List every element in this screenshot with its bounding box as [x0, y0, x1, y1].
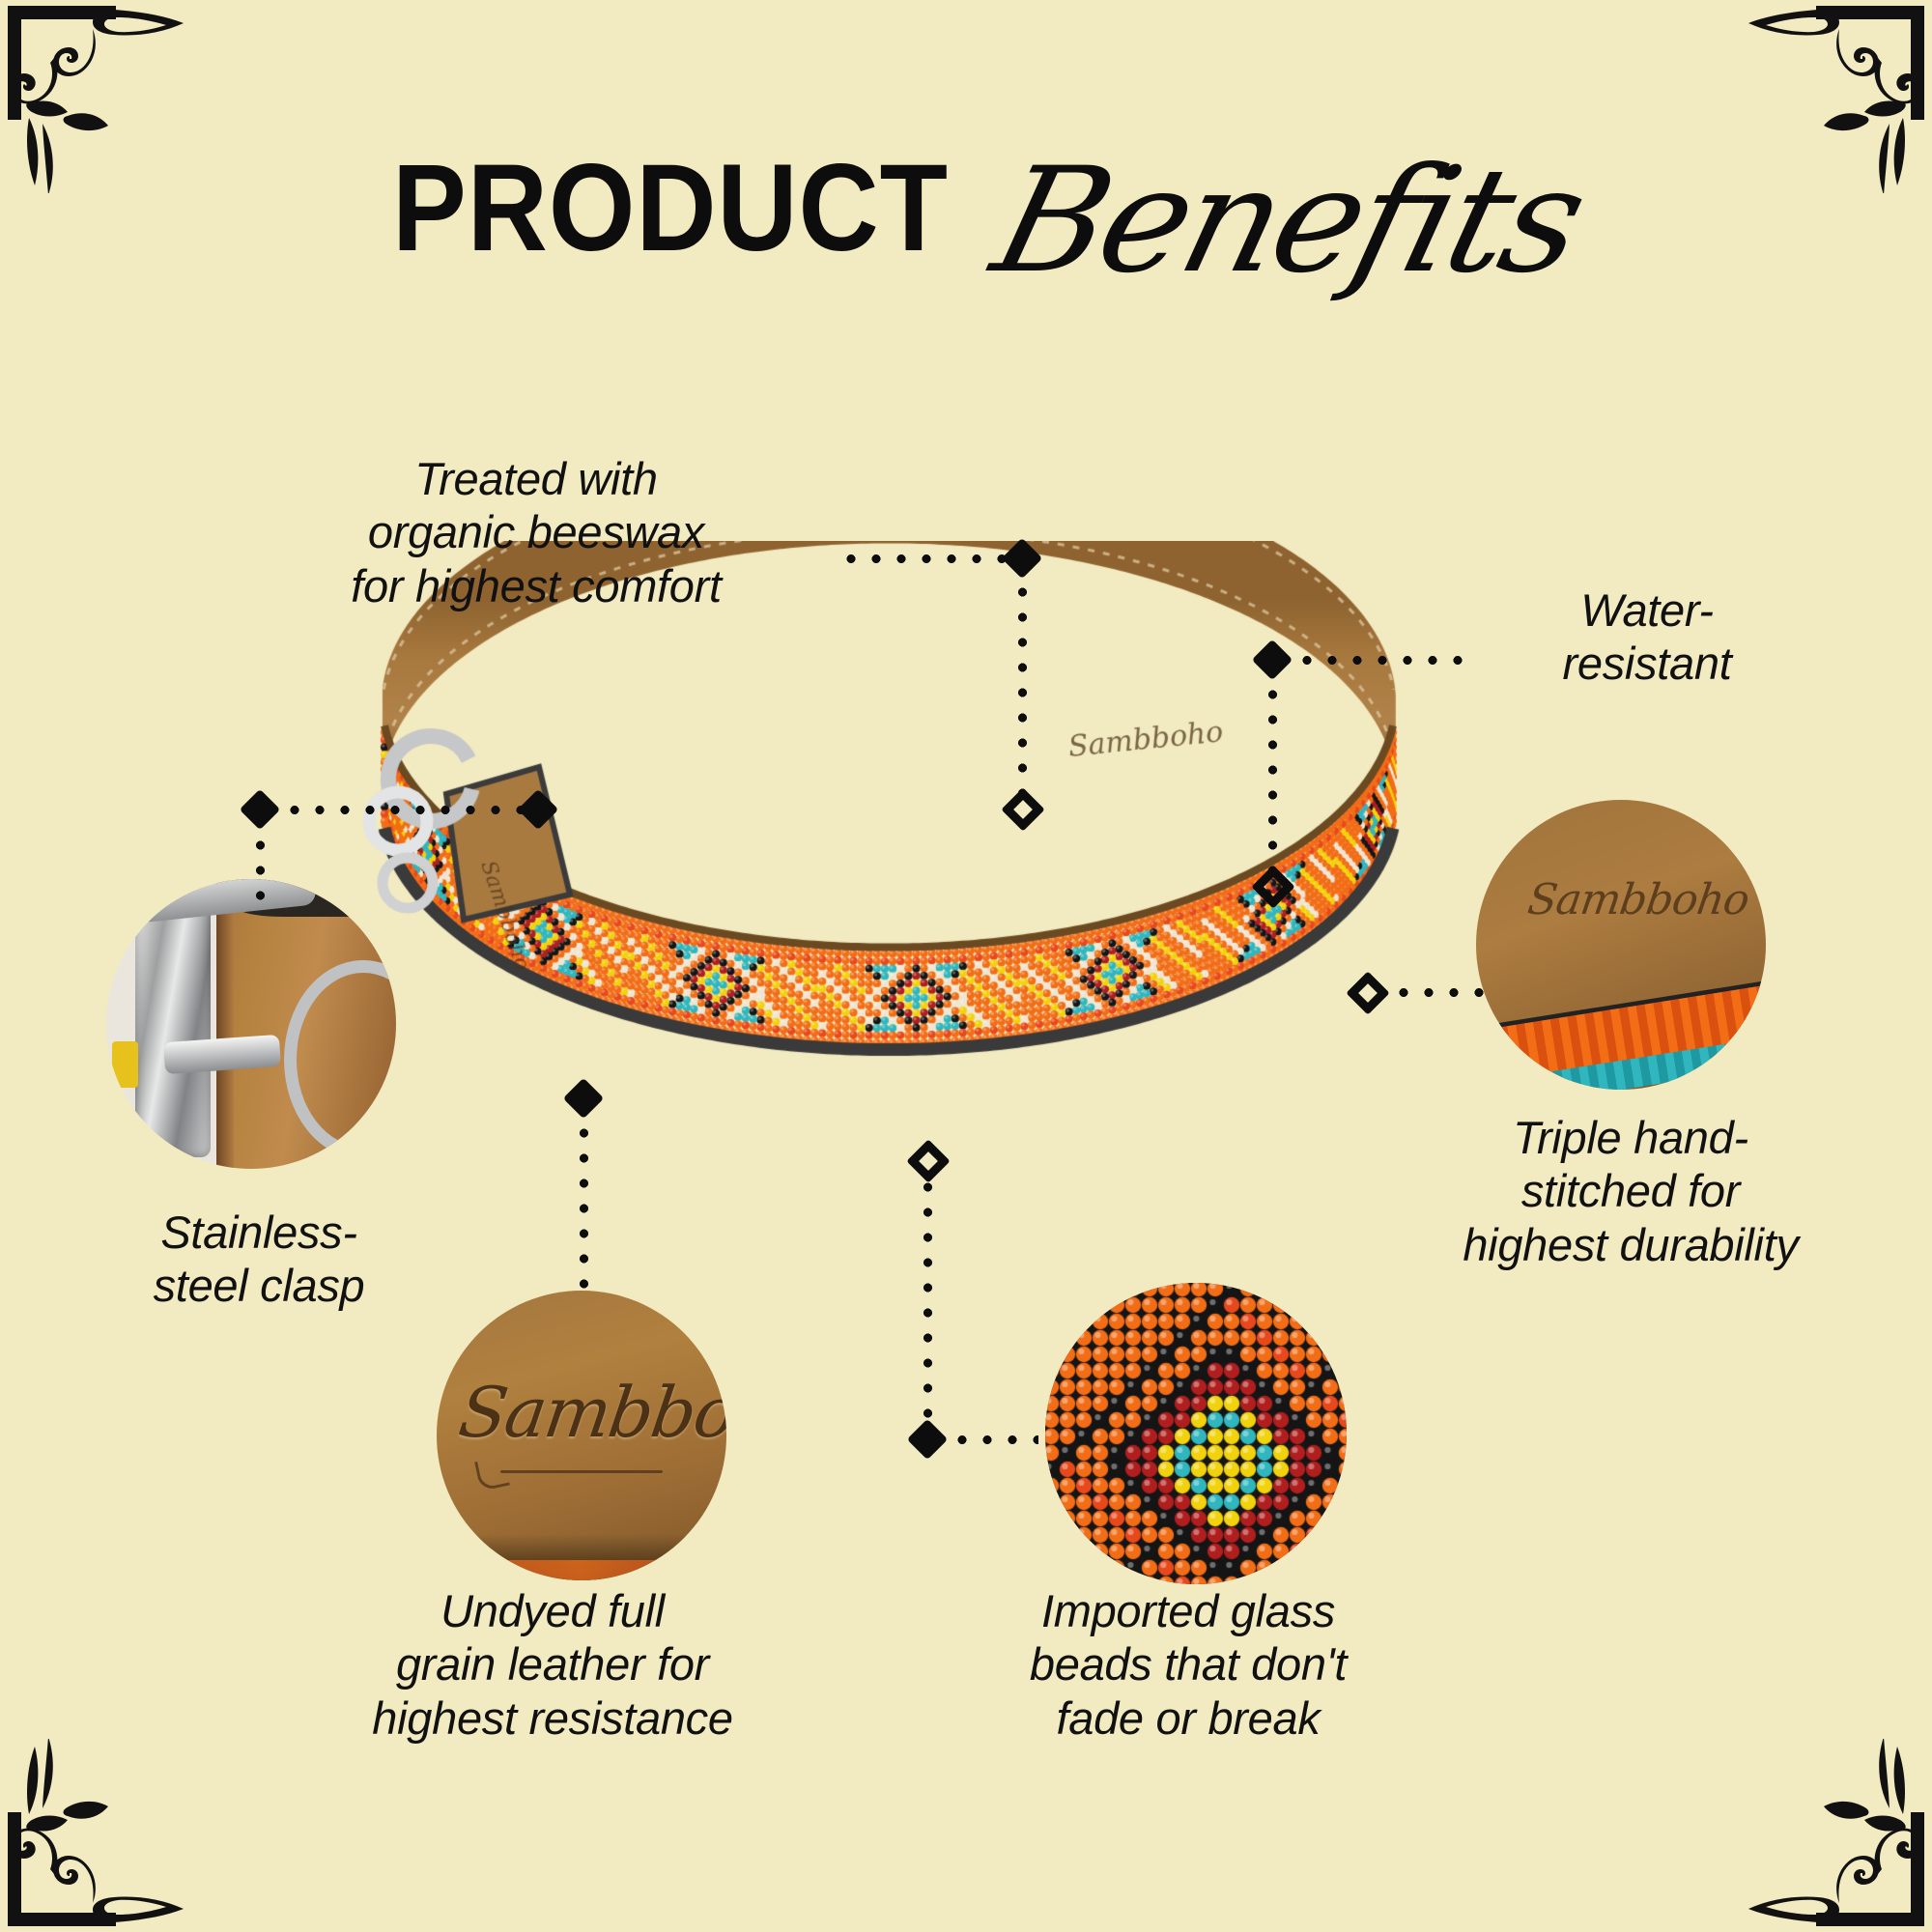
- corner-flourish-bottom-right-icon: [1739, 1739, 1932, 1932]
- callout-leather-line3: highest resistance: [301, 1691, 804, 1745]
- leader-beads-endpoint-diamond: [906, 1139, 950, 1182]
- callout-beads-line3: fade or break: [947, 1691, 1430, 1745]
- leader-water-horizontal: [1294, 656, 1470, 665]
- callout-stitch-line3: highest durability: [1391, 1218, 1870, 1271]
- leader-beads-vertical: [923, 1175, 932, 1422]
- callout-water-resistant: Water- resistant: [1488, 583, 1806, 691]
- page-title: PRODUCTBenefits: [0, 124, 1932, 292]
- callout-triple-stitched: Triple hand- stitched for highest durabi…: [1391, 1111, 1870, 1271]
- leader-leather-vertical: [580, 1121, 588, 1291]
- infographic-canvas: PRODUCTBenefits Sambboho Sambboho: [0, 0, 1932, 1932]
- callout-beeswax-line2: organic beeswax: [309, 505, 763, 558]
- page-title-bold: PRODUCT: [391, 137, 948, 279]
- callout-water-line2: resistant: [1488, 637, 1806, 690]
- callout-glass-beads: Imported glass beads that don't fade or …: [947, 1584, 1430, 1745]
- callout-beeswax: Treated with organic beeswax for highest…: [309, 452, 763, 612]
- callout-stitch-line1: Triple hand-: [1391, 1111, 1870, 1164]
- callout-undyed-leather: Undyed full grain leather for highest re…: [301, 1584, 804, 1745]
- inset-stainless-steel-clasp: [106, 879, 396, 1169]
- leader-clasp-elbow-diamond: [240, 789, 280, 830]
- callout-beads-line1: Imported glass: [947, 1584, 1430, 1637]
- leader-beeswax-horizontal: [838, 554, 1009, 563]
- callout-clasp-line2: steel clasp: [95, 1259, 423, 1312]
- callout-water-line1: Water-: [1488, 583, 1806, 637]
- leader-beads-elbow-diamond: [907, 1419, 948, 1460]
- inset-undyed-leather-logo: Sambboho: [437, 1291, 726, 1580]
- leader-clasp-vertical: [256, 833, 265, 902]
- corner-flourish-bottom-left-icon: [0, 1739, 193, 1932]
- leader-water-vertical: [1268, 682, 1277, 871]
- callout-beads-line2: beads that don't: [947, 1637, 1430, 1690]
- callout-stitch-line2: stitched for: [1391, 1164, 1870, 1217]
- leader-leather-target-diamond: [563, 1078, 604, 1119]
- callout-stainless-clasp: Stainless- steel clasp: [95, 1206, 423, 1313]
- leader-beeswax-vertical: [1018, 580, 1027, 794]
- leader-stitch-horizontal: [1391, 988, 1484, 997]
- brand-logo-text: Sambboho: [454, 1372, 709, 1453]
- leader-clasp-horizontal: [282, 806, 533, 814]
- inset-triple-stitching: Sambboho: [1476, 800, 1766, 1090]
- leader-beads-horizontal: [950, 1435, 1038, 1444]
- page-title-script: Benefits: [980, 137, 1598, 305]
- inset-glass-beads-macro: [1045, 1283, 1347, 1584]
- callout-beeswax-line1: Treated with: [309, 452, 763, 505]
- brand-logo-text-small: Sambboho: [1524, 875, 1717, 924]
- callout-leather-line2: grain leather for: [301, 1637, 804, 1690]
- callout-beeswax-line3: for highest comfort: [309, 559, 763, 612]
- callout-clasp-line1: Stainless-: [95, 1206, 423, 1259]
- callout-leather-line1: Undyed full: [301, 1584, 804, 1637]
